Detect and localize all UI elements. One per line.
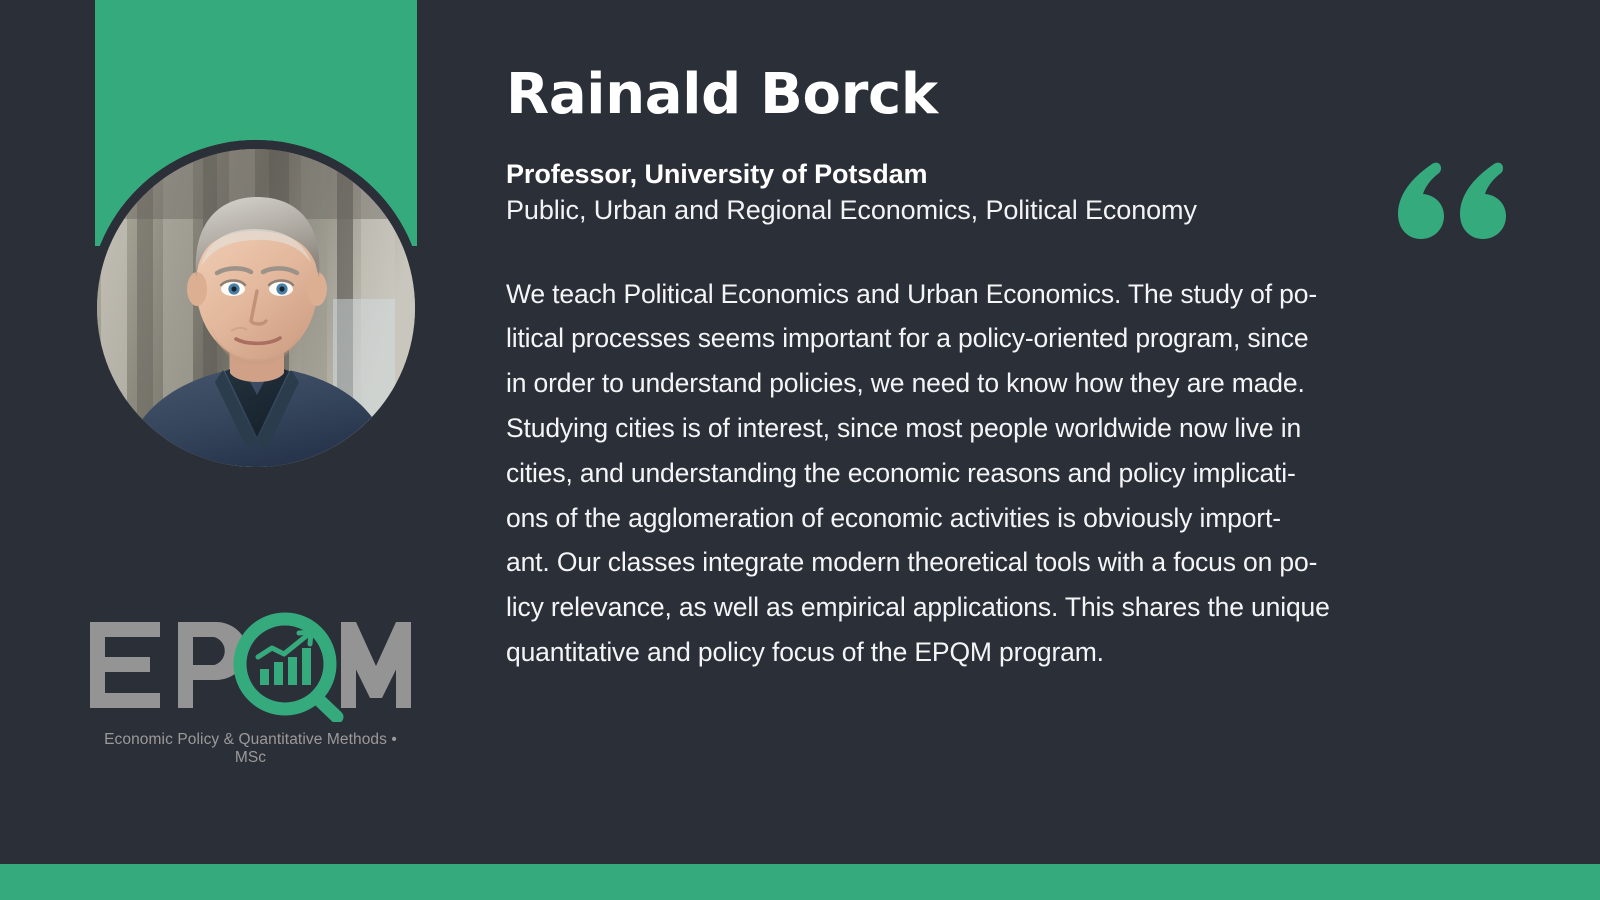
quote-text: We teach Political Economics and Urban E… bbox=[506, 272, 1491, 675]
epqm-logo: Economic Policy & Quantitative Methods •… bbox=[88, 612, 413, 767]
testimonial-content: Rainald Borck Professor, University of P… bbox=[506, 66, 1498, 675]
portrait-photo bbox=[97, 149, 415, 467]
person-name: Rainald Borck bbox=[506, 66, 1498, 125]
quote-line: litical processes seems important for a … bbox=[506, 316, 1491, 361]
bottom-accent-bar bbox=[0, 864, 1600, 900]
quote-line: We teach Political Economics and Urban E… bbox=[506, 272, 1491, 317]
person-role-block: Professor, University of Potsdam Public,… bbox=[506, 156, 1498, 229]
quote-line: ant. Our classes integrate modern theore… bbox=[506, 540, 1491, 585]
logo-tagline: Economic Policy & Quantitative Methods •… bbox=[88, 731, 413, 767]
quotation-mark-icon bbox=[1392, 162, 1510, 240]
quote-line: Studying cities is of interest, since mo… bbox=[506, 406, 1491, 451]
quote-line: quantitative and policy focus of the EPQ… bbox=[506, 630, 1491, 675]
magnifier-bar-chart-icon bbox=[240, 619, 337, 717]
quote-line: in order to understand policies, we need… bbox=[506, 361, 1491, 406]
quote-line: cities, and understanding the economic r… bbox=[506, 451, 1491, 496]
testimonial-card: Economic Policy & Quantitative Methods •… bbox=[0, 0, 1600, 900]
person-role: Professor, University of Potsdam bbox=[506, 156, 1498, 192]
quote-line: ons of the agglomeration of economic act… bbox=[506, 496, 1491, 541]
person-fields: Public, Urban and Regional Economics, Po… bbox=[506, 192, 1498, 228]
epqm-logo-mark bbox=[88, 612, 413, 722]
avatar bbox=[88, 140, 424, 476]
quote-line: licy relevance, as well as empirical app… bbox=[506, 585, 1491, 630]
